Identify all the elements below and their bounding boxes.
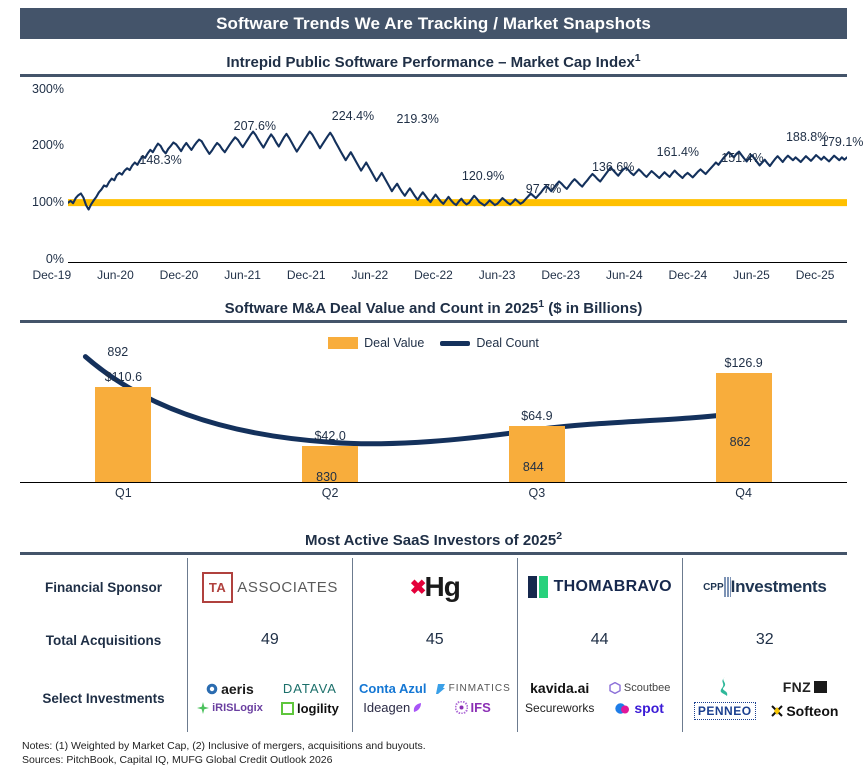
chart1-rule: [20, 74, 847, 77]
chart1-annotation-5: 97.7%: [526, 182, 561, 196]
investors-title: Most Active SaaS Investors of 20252: [20, 530, 847, 549]
investment-logo-grid-ta: aeris DATAVA iRISLogix logility: [188, 677, 352, 720]
bar-column-q1[interactable]: $110.6: [95, 352, 151, 482]
y-tick-300: 300%: [20, 82, 64, 96]
table-row-investments: Select Investments aeris DATAVA iRISLogi…: [20, 664, 847, 732]
deal-count-label-q3: 844: [523, 460, 544, 474]
deal-count-label-q4: 862: [730, 435, 751, 449]
y-tick-100: 100%: [20, 195, 64, 209]
x-tick-jun25: Jun-25: [720, 268, 784, 282]
bar-value-label-q2: $42.0: [314, 429, 345, 443]
ma-deal-value-count-chart: Deal Value Deal Count $110.6$42.0$64.9$1…: [20, 322, 847, 512]
logo-scoutbee[interactable]: Scoutbee: [609, 682, 670, 694]
thoma-bravo-wordmark: THOMABRAVO: [554, 578, 672, 596]
logo-softeon[interactable]: Softeon: [771, 703, 838, 719]
cpp-wordmark: Investments: [731, 577, 827, 597]
hg-wordmark: Hg: [425, 571, 460, 603]
bar-rect-q4: [716, 373, 772, 482]
investment-logo-grid-hg: Conta Azul FINMATICS Ideagen IFS: [353, 677, 517, 719]
investment-logo-grid-cpp: FNZ PENNEO Softeon: [683, 672, 847, 724]
logo-logility-text: logility: [297, 701, 339, 716]
logo-finmatics[interactable]: FINMATICS: [435, 683, 511, 695]
logo-finmatics-text: FINMATICS: [449, 683, 511, 694]
hg-cross-icon: ✖: [410, 575, 425, 600]
chart2-title-tail: ($ in Billions): [544, 300, 642, 317]
legend-label-deal-count: Deal Count: [476, 336, 539, 350]
logo-fnz[interactable]: FNZ: [783, 679, 827, 695]
row-label-select-investments: Select Investments: [20, 664, 188, 732]
sponsor-logo-ta-associates[interactable]: TA ASSOCIATES: [188, 558, 353, 616]
sponsor-logo-cpp-investments[interactable]: CPPInvestments: [682, 558, 847, 616]
logo-ifs[interactable]: IFS: [455, 700, 491, 715]
chart1-annotation-2: 224.4%: [332, 109, 374, 123]
softeon-x-icon: [771, 705, 783, 717]
chart2-title: Software M&A Deal Value and Count in 202…: [20, 298, 847, 317]
thoma-bravo-bar-green-icon: [539, 576, 548, 598]
logo-kavida-ai-text: kavida.ai: [530, 680, 589, 696]
bar-value-label-q3: $64.9: [521, 409, 552, 423]
chart1-annotation-10: 179.1%: [821, 135, 863, 149]
fnz-block-icon: [814, 681, 827, 693]
logo-irislogix[interactable]: iRISLogix: [197, 702, 263, 714]
acquisitions-hg: 45: [352, 616, 517, 664]
x-tick-jun22: Jun-22: [338, 268, 402, 282]
legend-item-deal-value: Deal Value: [328, 336, 424, 350]
chart1-plot-area: [68, 88, 847, 260]
page-title: Software Trends We Are Tracking / Market…: [20, 8, 847, 39]
logo-logility[interactable]: logility: [281, 701, 339, 716]
legend-label-deal-value: Deal Value: [364, 336, 424, 350]
x-tick-jun24: Jun-24: [592, 268, 656, 282]
sponsor-logo-hg[interactable]: ✖ Hg: [352, 558, 517, 616]
logo-aeris[interactable]: aeris: [206, 681, 254, 697]
investments-cpp-investments: FNZ PENNEO Softeon: [682, 664, 847, 732]
x-tick-dec21: Dec-21: [274, 268, 338, 282]
x-tick-dec23: Dec-23: [529, 268, 593, 282]
logo-kavida-ai[interactable]: kavida.ai: [530, 680, 589, 696]
y-tick-200: 200%: [20, 138, 64, 152]
chart1-title: Intrepid Public Software Performance – M…: [20, 52, 847, 71]
logo-scoutbee-text: Scoutbee: [624, 682, 670, 694]
aeris-globe-icon: [206, 683, 218, 695]
logo-ideagen[interactable]: Ideagen: [363, 700, 422, 715]
logo-spot-text: spot: [634, 700, 664, 716]
sponsor-logo-thoma-bravo[interactable]: THOMABRAVO: [517, 558, 682, 616]
bar-rect-q3: [509, 426, 565, 482]
x-tick-jun23: Jun-23: [465, 268, 529, 282]
footnote-sources: Sources: PitchBook, Capital IQ, MUFG Glo…: [22, 753, 722, 768]
x-tick-q4: Q4: [640, 486, 847, 500]
chart1-x-axis: [68, 262, 847, 263]
slide-page: Software Trends We Are Tracking / Market…: [0, 0, 867, 771]
table-row-acquisitions: Total Acquisitions 49 45 44 32: [20, 616, 847, 664]
bar-column-q2[interactable]: $42.0: [302, 352, 358, 482]
finmatics-flag-icon: [435, 683, 446, 695]
scoutbee-hex-icon: [609, 682, 621, 694]
x-tick-dec24: Dec-24: [656, 268, 720, 282]
investors-table-grid: Financial Sponsor TA ASSOCIATES ✖ Hg: [20, 558, 847, 732]
chart1-annotation-1: 207.6%: [234, 119, 276, 133]
investments-ta-associates: aeris DATAVA iRISLogix logility: [188, 664, 353, 732]
ifs-burst-icon: [455, 701, 468, 714]
logo-secureworks-text: Secureworks: [525, 701, 594, 715]
chart2-title-text: Software M&A Deal Value and Count in 202…: [225, 300, 539, 317]
chart1-annotation-6: 136.6%: [592, 160, 634, 174]
logo-datava[interactable]: DATAVA: [283, 681, 337, 696]
x-tick-dec25: Dec-25: [783, 268, 847, 282]
y-tick-0: 0%: [20, 252, 64, 266]
hg-logo: ✖ Hg: [353, 571, 517, 603]
chart1-annotation-7: 161.4%: [657, 145, 699, 159]
logo-secureworks[interactable]: Secureworks: [525, 701, 594, 715]
ta-wordmark: ASSOCIATES: [237, 579, 338, 596]
cpp-investments-logo: CPPInvestments: [683, 577, 847, 597]
logo-spot[interactable]: spot: [615, 700, 664, 716]
x-tick-dec22: Dec-22: [402, 268, 466, 282]
investors-title-text: Most Active SaaS Investors of 2025: [305, 532, 556, 549]
index-line-series: [68, 132, 847, 210]
logo-conta-azul[interactable]: Conta Azul: [359, 681, 426, 696]
chart1-annotation-0: 148.3%: [139, 153, 181, 167]
logo-penneo[interactable]: PENNEO: [694, 702, 756, 720]
chart1-title-footnote-marker: 1: [635, 52, 641, 64]
acquisitions-thoma-bravo: 44: [517, 616, 682, 664]
investments-thoma-bravo: kavida.ai Scoutbee Secureworks spot: [517, 664, 682, 732]
chart1-annotation-4: 120.9%: [462, 169, 504, 183]
bar-value-label-q4: $126.9: [725, 356, 763, 370]
x-tick-dec19: Dec-19: [20, 268, 84, 282]
x-tick-q2: Q2: [227, 486, 434, 500]
chart2-x-axis: [20, 482, 847, 483]
investors-rule: [20, 552, 847, 555]
logo-fnz-text: FNZ: [783, 679, 811, 695]
investment-logo-grid-thoma-bravo: kavida.ai Scoutbee Secureworks spot: [518, 676, 682, 720]
logo-softeon-text: Softeon: [786, 703, 838, 719]
cpp-bars-icon: [724, 577, 731, 597]
x-tick-jun20: Jun-20: [84, 268, 148, 282]
logo-penneo-text: PENNEO: [698, 704, 752, 718]
investors-table: Financial Sponsor TA ASSOCIATES ✖ Hg: [20, 558, 847, 732]
table-row-sponsor: Financial Sponsor TA ASSOCIATES ✖ Hg: [20, 558, 847, 616]
logo-datava-text: DATAVA: [283, 681, 337, 696]
logo-ifs-text: IFS: [471, 700, 491, 715]
irislogix-star-icon: [197, 702, 209, 714]
logo-ideagen-text: Ideagen: [363, 700, 410, 715]
market-cap-index-chart: 300% 200% 100% 0% 148.3%207.6%224.4%219.…: [20, 84, 847, 284]
chart2-legend: Deal Value Deal Count: [20, 336, 847, 350]
thoma-bravo-logo: THOMABRAVO: [518, 576, 682, 598]
bar-rect-q1: [95, 387, 151, 482]
legend-item-deal-count: Deal Count: [440, 336, 539, 350]
chart1-svg: [68, 88, 847, 260]
footnote-notes: Notes: (1) Weighted by Market Cap, (2) I…: [22, 739, 722, 754]
bar-value-label-q1: $110.6: [105, 370, 142, 384]
investments-hg: Conta Azul FINMATICS Ideagen IFS: [352, 664, 517, 732]
ta-associates-logo: TA ASSOCIATES: [188, 572, 352, 603]
ta-mark-icon: TA: [202, 572, 233, 603]
investors-title-footnote-marker: 2: [556, 530, 562, 542]
acquisitions-cpp-investments: 32: [682, 616, 847, 664]
x-tick-q1: Q1: [20, 486, 227, 500]
cpp-mark-icon: CPP: [703, 582, 724, 593]
acquisitions-ta-associates: 49: [188, 616, 353, 664]
deal-count-label-q1: 892: [107, 345, 128, 359]
legend-bar-swatch-icon: [328, 337, 358, 349]
logo-conta-azul-text: Conta Azul: [359, 681, 426, 696]
chart1-annotation-8: 151.4%: [721, 151, 763, 165]
logo-penneo-mark[interactable]: [716, 676, 734, 698]
bar-column-q4[interactable]: $126.9: [716, 352, 772, 482]
spot-droplet-icon: [615, 702, 631, 715]
chart2-plot-area: $110.6$42.0$64.9$126.9 892830844862: [20, 352, 847, 482]
x-tick-jun21: Jun-21: [211, 268, 275, 282]
chart2-x-tick-labels: Q1 Q2 Q3 Q4: [20, 486, 847, 500]
logo-aeris-text: aeris: [221, 681, 254, 697]
row-label-total-acquisitions: Total Acquisitions: [20, 616, 188, 664]
chart1-annotation-3: 219.3%: [396, 112, 438, 126]
chart1-title-text: Intrepid Public Software Performance – M…: [226, 54, 634, 71]
ideagen-leaf-icon: [413, 703, 422, 713]
deal-value-bars: $110.6$42.0$64.9$126.9: [20, 352, 847, 482]
x-tick-dec20: Dec-20: [147, 268, 211, 282]
penneo-ribbon-icon: [716, 676, 734, 698]
x-tick-q3: Q3: [434, 486, 641, 500]
chart1-x-tick-labels: Dec-19 Jun-20 Dec-20 Jun-21 Dec-21 Jun-2…: [20, 268, 847, 282]
thoma-bravo-bar-dark-icon: [528, 576, 537, 598]
logility-square-icon: [281, 702, 294, 715]
row-label-financial-sponsor: Financial Sponsor: [20, 558, 188, 616]
legend-line-swatch-icon: [440, 341, 470, 346]
logo-irislogix-text: iRISLogix: [212, 702, 263, 714]
